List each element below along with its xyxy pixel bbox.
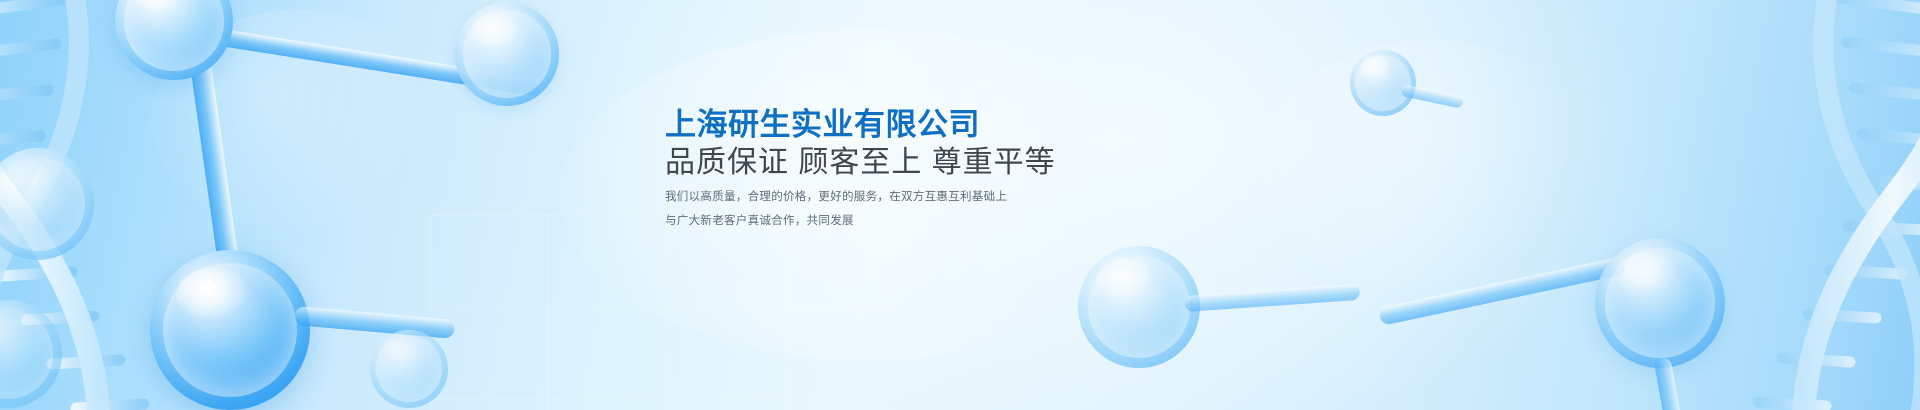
atom-bottom-right-large [1595,238,1725,368]
bond-bottom-center-right [1184,284,1360,312]
company-description: 我们以高质量，合理的价格，更好的服务，在双方互惠互利基础上 与广大新老客户真诚合… [665,187,1305,231]
bond-bottom-left-right [294,306,455,339]
cloud-highlight-left [150,10,450,230]
dna-helix-right [1722,0,1920,410]
bond-bottom-right-link [1378,256,1626,326]
description-line-2: 与广大新老客户真诚合作，共同发展 [665,211,1305,231]
description-line-1: 我们以高质量，合理的价格，更好的服务，在双方互惠互利基础上 [665,187,1305,207]
company-slogan: 品质保证 顾客至上 尊重平等 [665,145,1305,181]
cloud-highlight-right [1260,40,1600,290]
company-title: 上海研生实业有限公司 [665,108,1305,143]
atom-mid-left [0,148,94,260]
bond-top-right [1401,84,1464,109]
atom-bottom-center-right [1078,246,1200,368]
atom-bottom-far-left-edge [0,300,62,408]
atom-bottom-left [150,250,310,410]
atom-top-right-small [1350,50,1416,116]
grid-texture [430,215,900,410]
hero-copy: 上海研生实业有限公司 品质保证 顾客至上 尊重平等 我们以高质量，合理的价格，更… [665,108,1305,235]
bond-top-left-down [190,59,243,290]
hero-banner: 上海研生实业有限公司 品质保证 顾客至上 尊重平等 我们以高质量，合理的价格，更… [0,0,1920,410]
bond-bottom-right-down [1654,357,1687,410]
molecule-bottom-right [1340,230,1860,410]
atom-top-left [115,0,233,80]
molecule-top-right [1340,40,1560,200]
atom-top-left-partner [455,2,559,106]
molecule-bottom-left [120,210,460,410]
atom-bottom-left-small [370,330,448,408]
